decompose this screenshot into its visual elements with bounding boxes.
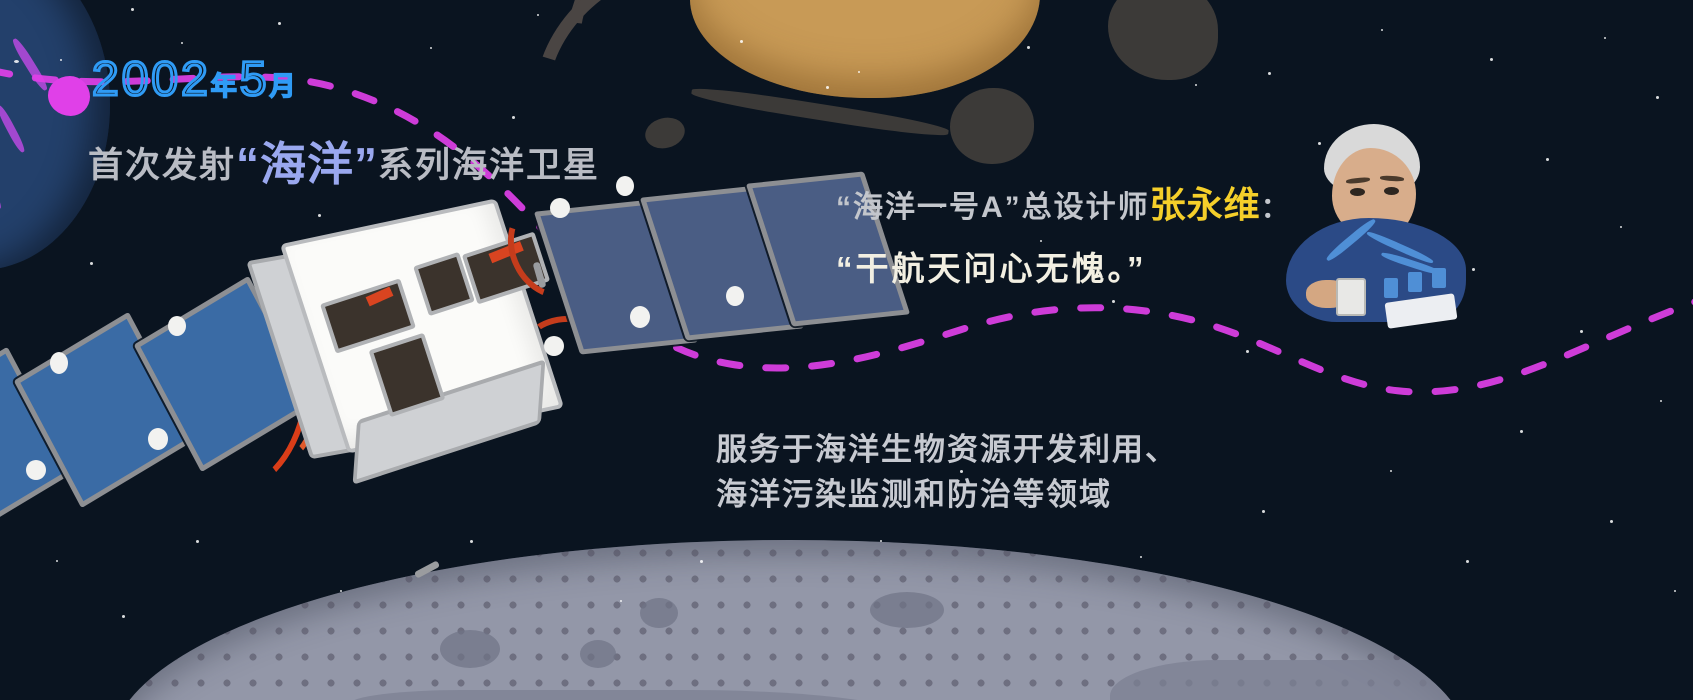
- portrait-eye-right: [1384, 187, 1399, 195]
- description-block: 服务于海洋生物资源开发利用、 海洋污染监测和防治等领域: [716, 428, 1178, 518]
- description-line-1: 服务于海洋生物资源开发利用、: [716, 428, 1178, 473]
- date-label: 2002年5月: [92, 52, 299, 107]
- portrait-badge-1: [1384, 278, 1398, 298]
- date-year: 2002: [92, 53, 211, 106]
- illustration-scene: 2002年5月 首次发射“海洋”系列海洋卫星 “海洋一号A”总设计师张永维： “…: [0, 0, 1693, 700]
- headline-quote-close: ”: [354, 138, 378, 190]
- designer-portrait: [1268, 120, 1468, 320]
- headline-quote-open: “: [236, 138, 260, 190]
- description-line-2: 海洋污染监测和防治等领域: [716, 473, 1178, 518]
- quote-text: “干航天问心无愧。”: [836, 242, 1291, 290]
- headline-highlight: 海洋: [260, 138, 354, 190]
- quote-attribution-prefix: “海洋一号A”总设计师: [836, 191, 1150, 224]
- portrait-badge-3: [1432, 268, 1446, 288]
- portrait-cup: [1336, 278, 1366, 316]
- date-month-unit: 月: [270, 71, 299, 101]
- quote-attribution: “海洋一号A”总设计师张永维：: [836, 176, 1291, 228]
- designer-quote-block: “海洋一号A”总设计师张永维： “干航天问心无愧。”: [836, 176, 1291, 290]
- headline-suffix: 系列海洋卫星: [378, 146, 600, 185]
- headline-prefix: 首次发射: [88, 146, 236, 185]
- satellite-illustration: [0, 180, 830, 500]
- portrait-badge-2: [1408, 272, 1422, 292]
- designer-name: 张永维: [1150, 184, 1261, 225]
- headline: 首次发射“海洋”系列海洋卫星: [88, 128, 600, 194]
- date-year-unit: 年: [211, 71, 240, 101]
- portrait-eye-left: [1350, 188, 1365, 196]
- date-month: 5: [240, 53, 270, 106]
